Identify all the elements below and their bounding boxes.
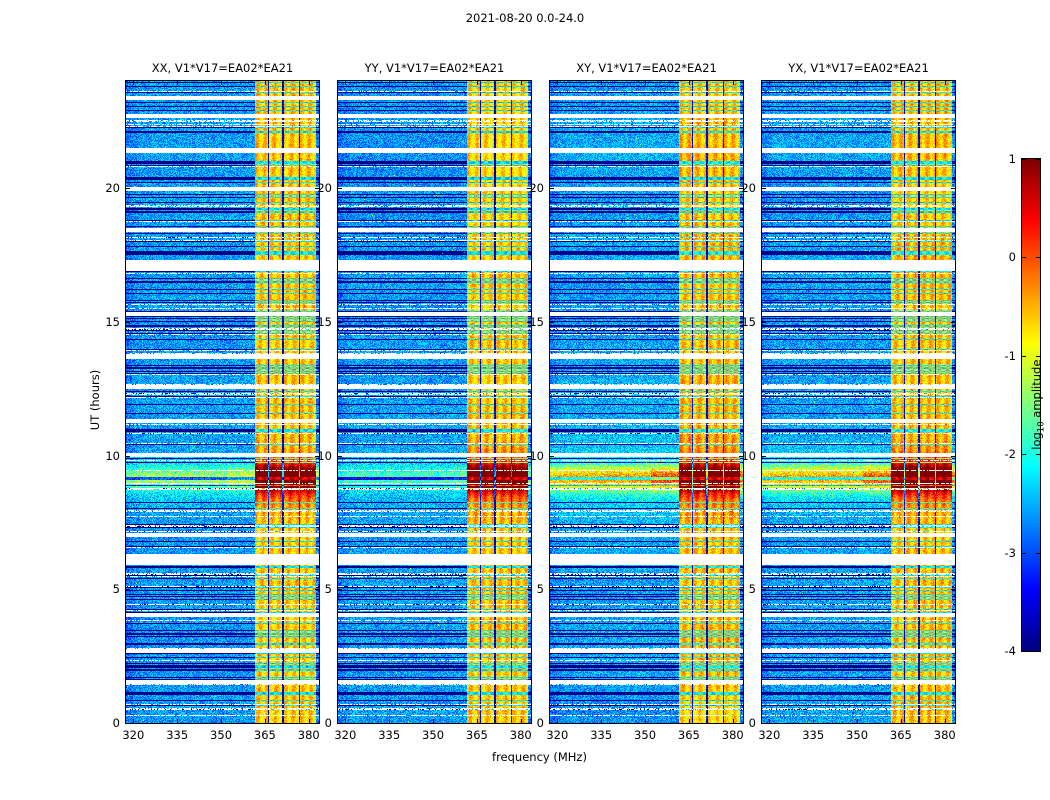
- colorbar-tick-mark-left: [1022, 651, 1026, 652]
- colorbar-tick-label: -2: [1005, 447, 1016, 461]
- x-axis-label: frequency (MHz): [125, 750, 954, 764]
- figure-suptitle: 2021-08-20 0.0-24.0: [0, 11, 1050, 25]
- x-tick-label: 320: [758, 728, 780, 742]
- y-tick-label: 15: [741, 315, 756, 329]
- panel-title-yx: YX, V1*V17=EA02*EA21: [788, 61, 929, 75]
- spectrum-figure: 2021-08-20 0.0-24.0 -4-3-2-101 log10 amp…: [0, 0, 1050, 800]
- x-tick-label: 380: [298, 728, 320, 742]
- colorbar-label-prefix: log: [1029, 432, 1043, 450]
- y-tick-mark-right: [739, 723, 743, 724]
- colorbar-tick-mark: [1036, 159, 1040, 160]
- x-ticklabels: 320335350365380: [550, 723, 743, 743]
- x-tick-label: 350: [846, 728, 868, 742]
- y-tick-label: 15: [105, 315, 120, 329]
- y-tick-mark: [338, 589, 342, 590]
- x-tick-mark-top: [177, 81, 178, 85]
- colorbar-tick-mark: [1036, 651, 1040, 652]
- y-tick-mark: [126, 723, 130, 724]
- y-tick-mark: [550, 322, 554, 323]
- y-tick-mark-right: [951, 322, 955, 323]
- x-tick-label: 320: [334, 728, 356, 742]
- y-tick-mark-right: [527, 723, 531, 724]
- colorbar-tick-mark-left: [1022, 257, 1026, 258]
- x-tick-mark-top: [601, 81, 602, 85]
- y-tick-mark: [762, 456, 766, 457]
- x-ticklabels: 320335350365380: [762, 723, 955, 743]
- y-tick-mark-right: [951, 188, 955, 189]
- x-tick-label: 335: [590, 728, 612, 742]
- colorbar-tick-mark-left: [1022, 454, 1026, 455]
- x-tick-label: 365: [678, 728, 700, 742]
- x-tick-label: 320: [546, 728, 568, 742]
- x-tick-mark-top: [221, 81, 222, 85]
- panel-title-yy: YY, V1*V17=EA02*EA21: [365, 61, 505, 75]
- x-tick-label: 320: [122, 728, 144, 742]
- y-tick-mark: [550, 188, 554, 189]
- colorbar-label-subscript: 10: [1037, 421, 1047, 432]
- colorbar-tick-label: 0: [1009, 250, 1016, 264]
- x-tick-label: 335: [378, 728, 400, 742]
- x-tick-mark-top: [857, 81, 858, 85]
- colorbar-tick-label: -4: [1005, 644, 1016, 658]
- y-tick-mark: [550, 589, 554, 590]
- x-tick-mark-top: [901, 81, 902, 85]
- x-tick-label: 365: [890, 728, 912, 742]
- dynamic-spectrum-image-xy: [550, 81, 743, 723]
- y-tick-label: 5: [325, 582, 332, 596]
- x-tick-mark-top: [389, 81, 390, 85]
- y-tick-label: 20: [105, 181, 120, 195]
- y-tick-label: 10: [317, 449, 332, 463]
- x-ticklabels: 320335350365380: [126, 723, 319, 743]
- y-tick-label: 0: [113, 716, 120, 730]
- y-tick-mark-right: [951, 456, 955, 457]
- y-tick-mark: [126, 589, 130, 590]
- x-tick-label: 335: [166, 728, 188, 742]
- x-tick-mark-top: [265, 81, 266, 85]
- y-tick-mark-right: [315, 723, 319, 724]
- x-tick-mark-top: [133, 81, 134, 85]
- spectrum-panel-yx: YX, V1*V17=EA02*EA2132033535036538005101…: [761, 80, 956, 724]
- y-tick-mark: [338, 456, 342, 457]
- x-tick-label: 350: [422, 728, 444, 742]
- x-tick-mark-top: [433, 81, 434, 85]
- y-tick-label: 10: [105, 449, 120, 463]
- colorbar-tick-mark-left: [1022, 159, 1026, 160]
- y-tick-mark: [762, 589, 766, 590]
- y-tick-label: 10: [741, 449, 756, 463]
- dynamic-spectrum-image-yx: [762, 81, 955, 723]
- x-tick-mark-top: [557, 81, 558, 85]
- y-tick-mark: [126, 322, 130, 323]
- colorbar-tick-label: -3: [1005, 546, 1016, 560]
- dynamic-spectrum-image-xx: [126, 81, 319, 723]
- x-tick-mark-top: [769, 81, 770, 85]
- x-tick-mark-top: [689, 81, 690, 85]
- y-tick-mark: [762, 322, 766, 323]
- panel-title-xx: XX, V1*V17=EA02*EA21: [152, 61, 293, 75]
- y-tick-mark: [338, 188, 342, 189]
- y-tick-label: 0: [325, 716, 332, 730]
- y-tick-mark-right: [951, 589, 955, 590]
- y-tick-mark: [126, 456, 130, 457]
- y-tick-label: 0: [537, 716, 544, 730]
- colorbar-tick-mark-left: [1022, 356, 1026, 357]
- y-tick-label: 15: [529, 315, 544, 329]
- spectrum-panel-yy: YY, V1*V17=EA02*EA2132033535036538005101…: [337, 80, 532, 724]
- x-tick-label: 365: [254, 728, 276, 742]
- y-ticklabels: 05101520: [728, 81, 762, 723]
- x-tick-mark-top: [645, 81, 646, 85]
- y-tick-label: 10: [529, 449, 544, 463]
- y-tick-mark-right: [951, 723, 955, 724]
- x-tick-mark-top: [345, 81, 346, 85]
- y-tick-mark: [338, 723, 342, 724]
- y-tick-mark: [762, 723, 766, 724]
- y-tick-label: 5: [749, 582, 756, 596]
- y-ticklabels: 05101520: [516, 81, 550, 723]
- x-tick-label: 380: [722, 728, 744, 742]
- y-tick-label: 15: [317, 315, 332, 329]
- y-tick-mark: [762, 188, 766, 189]
- y-tick-label: 0: [749, 716, 756, 730]
- colorbar-tick-mark: [1036, 553, 1040, 554]
- spectrum-panel-xx: XX, V1*V17=EA02*EA2132033535036538005101…: [125, 80, 320, 724]
- x-tick-label: 380: [510, 728, 532, 742]
- x-tick-mark-top: [477, 81, 478, 85]
- x-ticklabels: 320335350365380: [338, 723, 531, 743]
- colorbar-tick-label: -1: [1005, 349, 1016, 363]
- y-tick-mark: [338, 322, 342, 323]
- colorbar-axis-label: log10 amplitude: [1029, 345, 1046, 465]
- y-tick-mark: [126, 188, 130, 189]
- y-tick-label: 5: [113, 582, 120, 596]
- x-tick-label: 380: [934, 728, 956, 742]
- x-tick-label: 350: [634, 728, 656, 742]
- panel-title-xy: XY, V1*V17=EA02*EA21: [576, 61, 717, 75]
- y-tick-label: 20: [317, 181, 332, 195]
- y-tick-mark: [550, 456, 554, 457]
- colorbar-tick-label: 1: [1009, 152, 1016, 166]
- x-tick-mark-top: [813, 81, 814, 85]
- dynamic-spectrum-image-yy: [338, 81, 531, 723]
- x-tick-mark-top: [945, 81, 946, 85]
- x-tick-label: 350: [210, 728, 232, 742]
- y-tick-label: 20: [741, 181, 756, 195]
- y-tick-label: 20: [529, 181, 544, 195]
- colorbar-tick-mark-left: [1022, 553, 1026, 554]
- x-tick-label: 365: [466, 728, 488, 742]
- y-ticklabels: 05101520: [304, 81, 338, 723]
- colorbar-tick-mark: [1036, 257, 1040, 258]
- y-axis-label: UT (hours): [88, 340, 102, 460]
- colorbar-label-suffix: amplitude: [1029, 360, 1043, 422]
- spectrum-panel-xy: XY, V1*V17=EA02*EA2132033535036538005101…: [549, 80, 744, 724]
- y-tick-label: 5: [537, 582, 544, 596]
- x-tick-label: 335: [802, 728, 824, 742]
- y-tick-mark: [550, 723, 554, 724]
